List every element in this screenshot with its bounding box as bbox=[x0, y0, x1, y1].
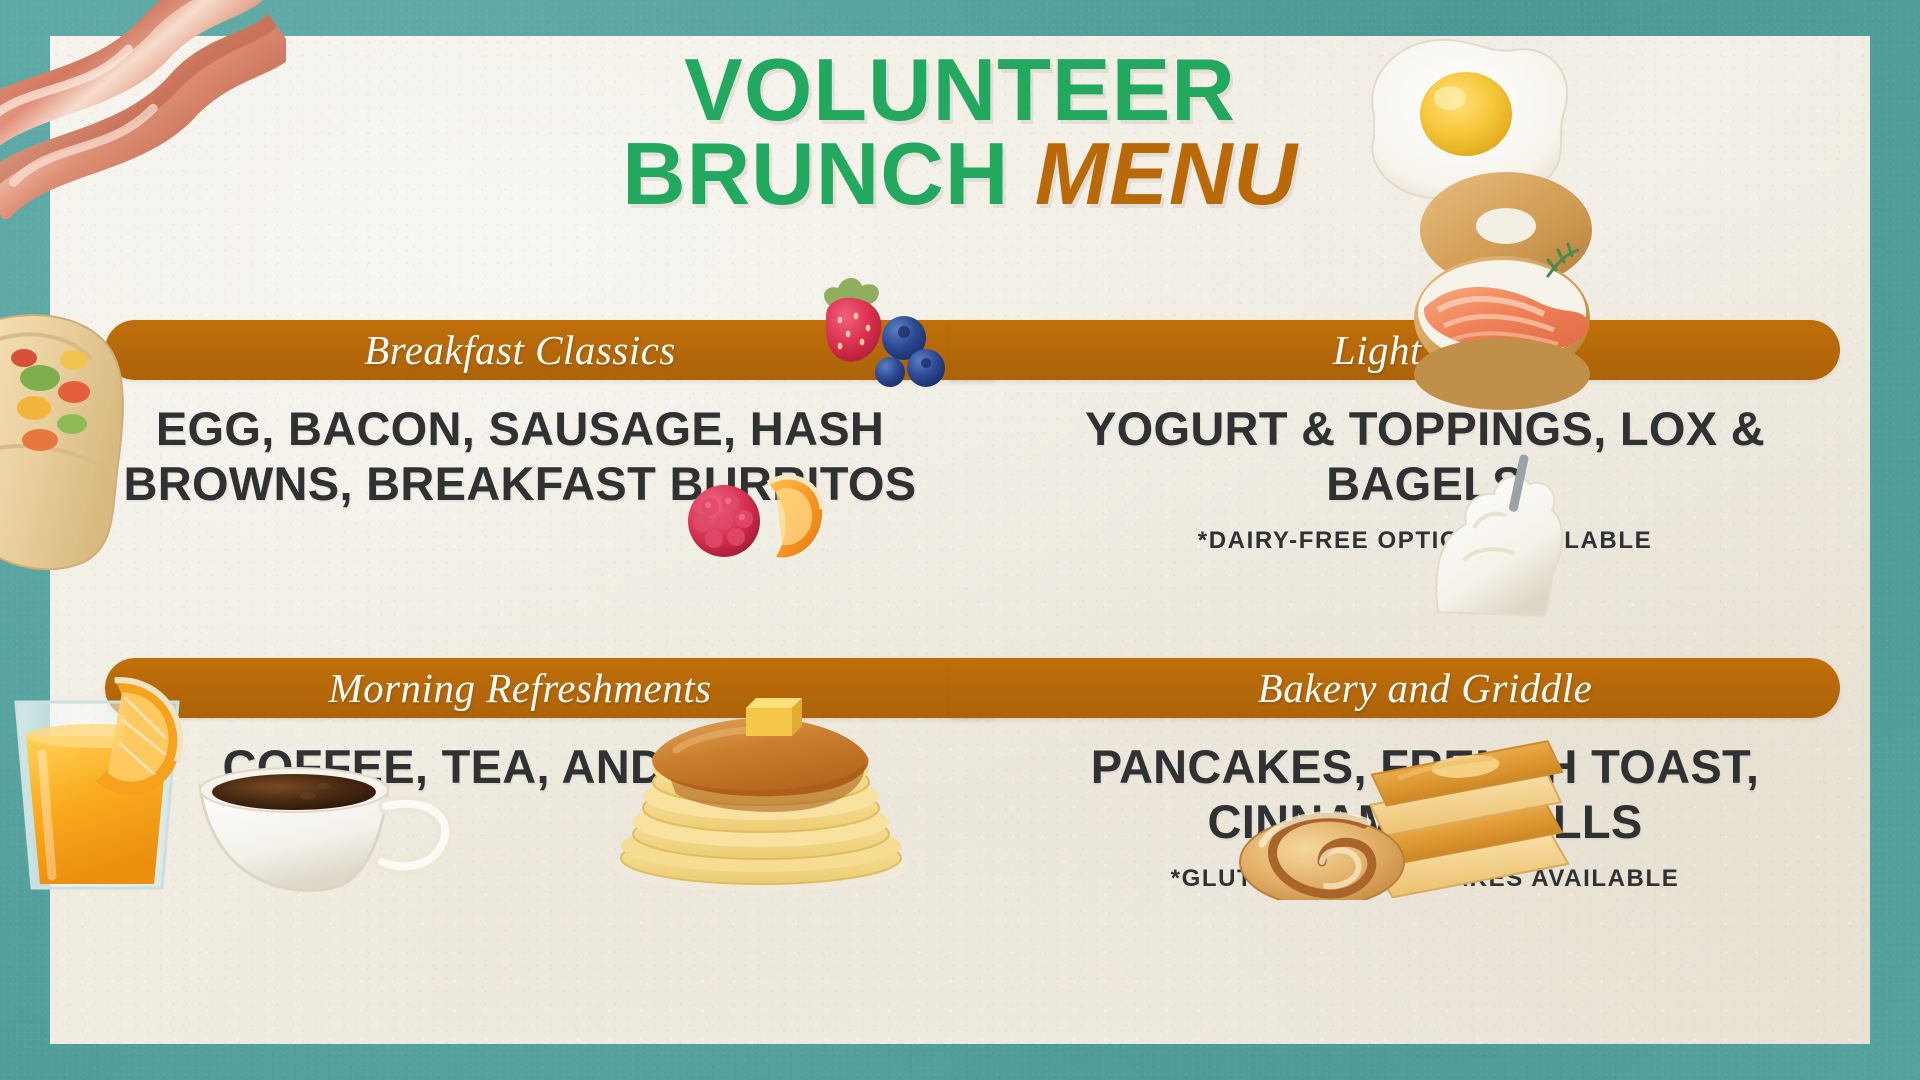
section-heading-bar-breakfast-classics: Breakfast Classics bbox=[105, 320, 995, 380]
title-brunch: BRUNCH bbox=[622, 124, 1009, 223]
poster-title: VOLUNTEER BRUNCH MENU bbox=[0, 48, 1920, 217]
section-heading-bar-light-bites: Light Bites bbox=[950, 320, 1840, 380]
section-note-dairy-free: *DAIRY-FREE OPTIONS AVAILABLE bbox=[1010, 527, 1840, 555]
section-items-breakfast-classics: EGG, BACON, SAUSAGE, HASH BROWNS, BREAKF… bbox=[105, 402, 935, 511]
section-heading-label: Breakfast Classics bbox=[364, 326, 676, 374]
title-menu: MENU bbox=[1035, 124, 1298, 223]
section-items-light-bites: YOGURT & TOPPINGS, LOX & BAGELS bbox=[1010, 402, 1840, 511]
section-bakery-and-griddle: Bakery and Griddle PANCAKES, FRENCH TOAS… bbox=[1010, 658, 1840, 893]
section-note-gluten-free: *GLUTEN-FREE PANCAKES AVAILABLE bbox=[1010, 865, 1840, 893]
section-light-bites: Light Bites YOGURT & TOPPINGS, LOX & BAG… bbox=[1010, 320, 1840, 555]
section-heading-bar-morning-refreshments: Morning Refreshments bbox=[105, 658, 995, 718]
section-items-bakery-and-griddle: PANCAKES, FRENCH TOAST, CINNAMON ROLLS bbox=[1010, 740, 1840, 849]
section-heading-label: Bakery and Griddle bbox=[1258, 664, 1593, 712]
section-breakfast-classics: Breakfast Classics EGG, BACON, SAUSAGE, … bbox=[105, 320, 935, 511]
title-line-1: VOLUNTEER bbox=[0, 48, 1920, 132]
section-heading-label: Light Bites bbox=[1333, 326, 1517, 374]
section-heading-label: Morning Refreshments bbox=[328, 664, 711, 712]
section-heading-bar-bakery-and-griddle: Bakery and Griddle bbox=[950, 658, 1840, 718]
section-items-morning-refreshments: COFFEE, TEA, AND JUICE bbox=[105, 740, 935, 795]
title-line-2: BRUNCH MENU bbox=[0, 132, 1920, 216]
menu-poster: VOLUNTEER BRUNCH MENU Breakfast Classics… bbox=[0, 0, 1920, 1080]
section-morning-refreshments: Morning Refreshments COFFEE, TEA, AND JU… bbox=[105, 658, 935, 795]
